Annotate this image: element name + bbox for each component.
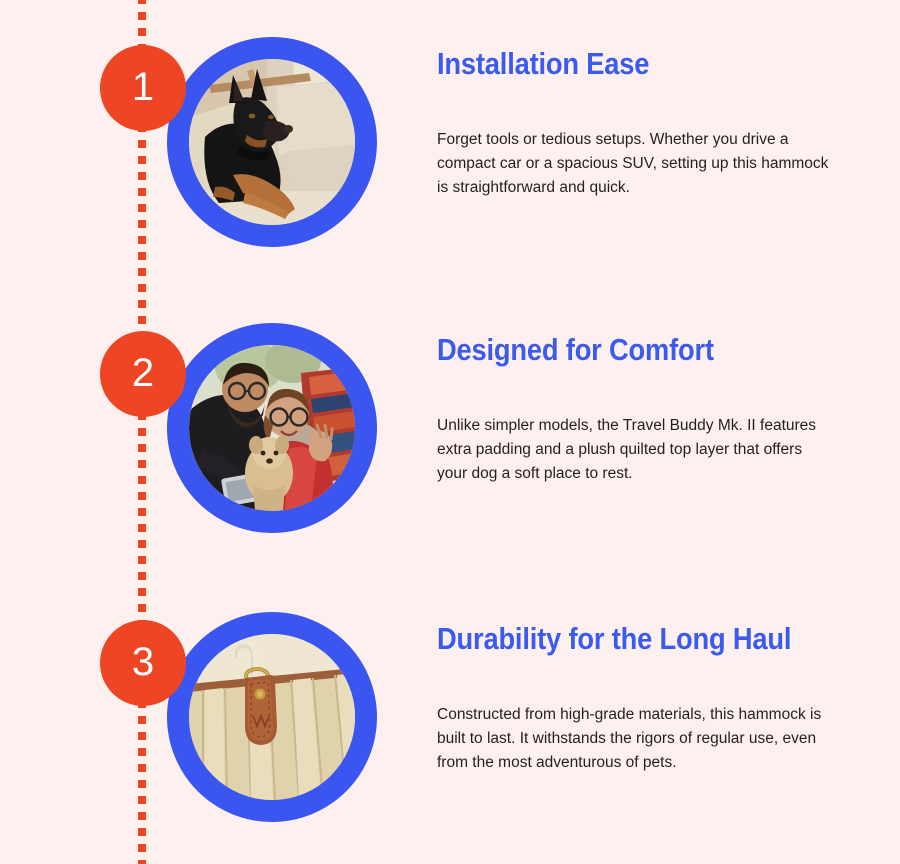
step-photo-2	[189, 345, 355, 511]
step-body-3: Constructed from high-grade materials, t…	[437, 703, 829, 775]
infographic-container: 1	[0, 0, 900, 860]
step-title-2: Designed for Comfort	[437, 334, 789, 367]
step-number-badge-1: 1	[100, 45, 186, 131]
step-number-label: 3	[132, 642, 154, 682]
doberman-in-car-illustration	[189, 59, 355, 225]
couple-selfie-with-dog-illustration	[189, 345, 355, 511]
step-number-label: 2	[132, 353, 154, 393]
step-title-3: Durability for the Long Haul	[437, 623, 789, 656]
step-number-badge-2: 2	[100, 331, 186, 417]
step-photo-ring-3	[167, 612, 377, 822]
step-number-badge-3: 3	[100, 620, 186, 706]
step-title-1: Installation Ease	[437, 48, 789, 81]
step-photo-ring-2	[167, 323, 377, 533]
quilted-fabric-leather-strap-illustration	[189, 634, 355, 800]
step-photo-1	[189, 59, 355, 225]
step-body-1: Forget tools or tedious setups. Whether …	[437, 128, 829, 200]
step-body-2: Unlike simpler models, the Travel Buddy …	[437, 414, 829, 486]
step-photo-3	[189, 634, 355, 800]
step-photo-ring-1	[167, 37, 377, 247]
step-text-column-2: Designed for Comfort Unlike simpler mode…	[437, 323, 837, 486]
step-text-column-1: Installation Ease Forget tools or tediou…	[437, 37, 837, 200]
step-text-column-3: Durability for the Long Haul Constructed…	[437, 612, 837, 775]
step-number-label: 1	[132, 67, 154, 107]
